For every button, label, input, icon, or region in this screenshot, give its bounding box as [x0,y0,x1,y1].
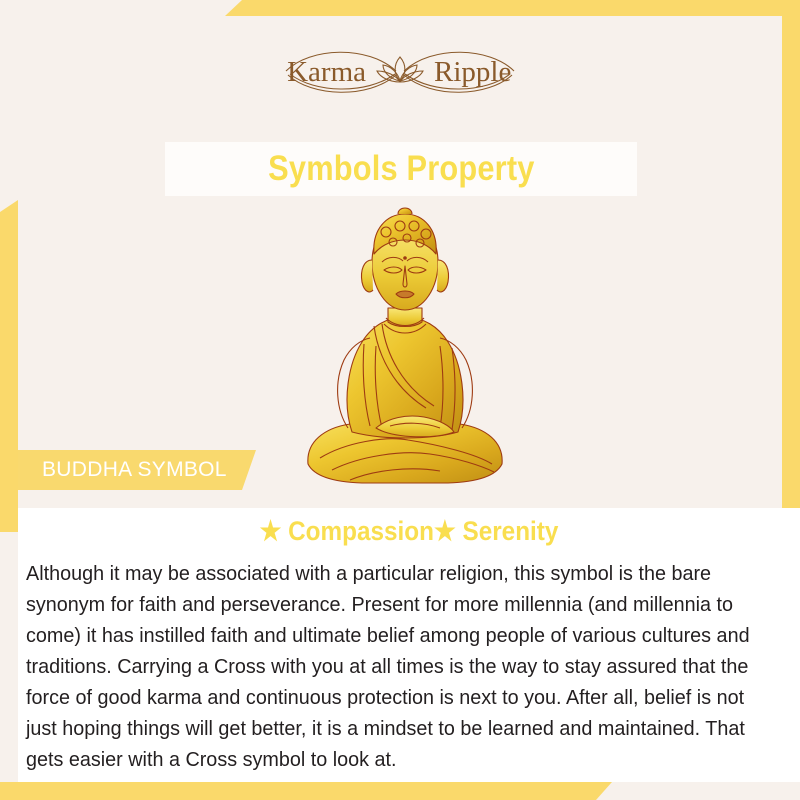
ribbon-label: BUDDHA SYMBOL [18,458,227,482]
corner-frame-top-right [225,0,800,16]
attributes-line: ★ Compassion★ Serenity [260,516,559,547]
logo-svg: Karma Ripple [250,41,550,105]
description-paragraph: Although it may be associated with a par… [26,558,756,775]
page-title: Symbols Property [268,149,534,189]
logo-word-ripple: Ripple [434,56,511,88]
logo-word-karma: Karma [287,56,366,88]
buddha-statue-image [290,196,520,496]
content-panel: ★ Compassion★ Serenity Although it may b… [18,508,800,782]
corner-frame-bottom-left [0,782,612,800]
section-ribbon-buddha-symbol: BUDDHA SYMBOL [18,450,256,490]
attributes-row: ★ Compassion★ Serenity [18,508,800,547]
buddha-statue-icon [290,196,520,496]
title-band: Symbols Property [165,142,637,196]
poster-canvas: Karma Ripple Symbols Property [0,0,800,800]
corner-frame-left [0,200,18,532]
brand-logo: Karma Ripple [0,38,800,108]
lotus-flower-icon [377,57,423,82]
